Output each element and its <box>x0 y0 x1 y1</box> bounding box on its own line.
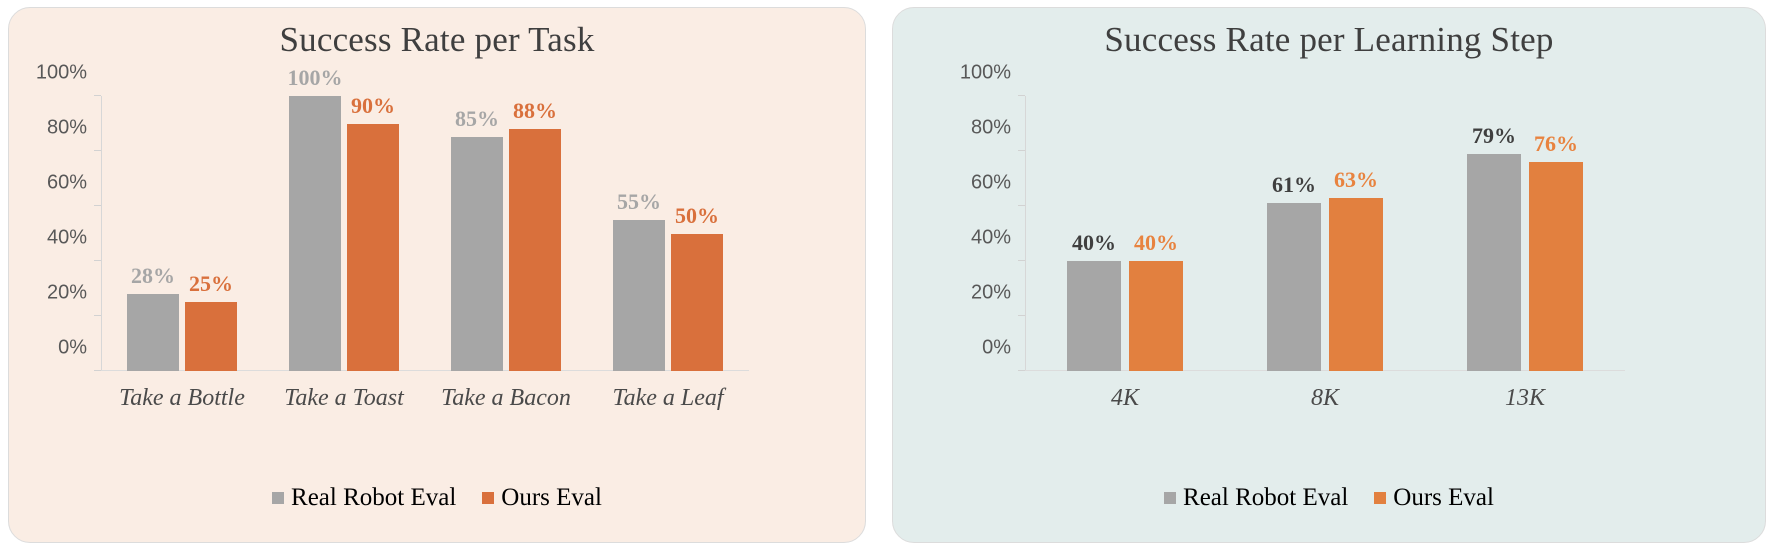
y-axis-label: 60% <box>47 172 87 195</box>
bar-value-label: 90% <box>351 93 395 119</box>
bar-ours-eval[interactable]: 40% <box>1129 261 1183 371</box>
y-axis-label: 80% <box>47 117 87 140</box>
y-axis-label: 100% <box>36 62 87 85</box>
legend-label: Real Robot Eval <box>291 484 456 512</box>
y-axis-label: 20% <box>47 282 87 305</box>
bar-pair: 100%90% <box>289 96 399 371</box>
bar-group: 61%63%8K <box>1225 96 1425 371</box>
bar-value-label: 88% <box>513 98 557 124</box>
bar-pair: 85%88% <box>451 96 561 371</box>
x-axis-label: 13K <box>1425 385 1625 412</box>
bar-pair: 61%63% <box>1267 96 1383 371</box>
bar-ours-eval[interactable]: 90% <box>347 124 399 372</box>
x-axis-label: Take a Leaf <box>587 385 749 412</box>
y-axis-tick <box>1018 205 1025 206</box>
bar-ours-eval[interactable]: 76% <box>1529 162 1583 371</box>
legend-swatch-icon <box>1374 492 1386 504</box>
bar-pair: 28%25% <box>127 96 237 371</box>
legend-swatch-icon <box>1164 492 1176 504</box>
bar-value-label: 28% <box>131 263 175 289</box>
y-axis-label: 80% <box>971 117 1011 140</box>
legend-left: Real Robot EvalOurs Eval <box>9 484 865 512</box>
bar-real-robot-eval[interactable]: 28% <box>127 294 179 371</box>
bar-groups-left: 28%25%Take a Bottle100%90%Take a Toast85… <box>101 96 749 371</box>
x-axis-label: Take a Bottle <box>101 385 263 412</box>
bar-group: 100%90%Take a Toast <box>263 96 425 371</box>
bar-real-robot-eval[interactable]: 61% <box>1267 203 1321 371</box>
y-axis-tick <box>94 370 101 371</box>
legend-right: Real Robot EvalOurs Eval <box>893 484 1765 512</box>
y-axis-tick <box>1018 370 1025 371</box>
legend-swatch-icon <box>272 492 284 504</box>
chart-panel-success-rate-per-task: Success Rate per Task 28%25%Take a Bottl… <box>8 7 866 543</box>
bar-ours-eval[interactable]: 63% <box>1329 198 1383 371</box>
legend-label: Ours Eval <box>1393 484 1494 512</box>
bar-group: 55%50%Take a Leaf <box>587 96 749 371</box>
page-title-right: Success Rate per Learning Step <box>893 20 1765 60</box>
bar-group: 40%40%4K <box>1025 96 1225 371</box>
legend-item-ours-eval[interactable]: Ours Eval <box>1374 484 1494 512</box>
bar-group: 85%88%Take a Bacon <box>425 96 587 371</box>
bar-value-label: 40% <box>1072 230 1116 256</box>
bar-value-label: 76% <box>1534 131 1578 157</box>
bar-pair: 79%76% <box>1467 96 1583 371</box>
y-axis-tick <box>1018 150 1025 151</box>
legend-item-real-robot-eval[interactable]: Real Robot Eval <box>1164 484 1348 512</box>
bar-real-robot-eval[interactable]: 79% <box>1467 154 1521 371</box>
legend-item-ours-eval[interactable]: Ours Eval <box>482 484 602 512</box>
y-axis-tick <box>94 150 101 151</box>
bar-group: 79%76%13K <box>1425 96 1625 371</box>
bar-ours-eval[interactable]: 88% <box>509 129 561 371</box>
bar-value-label: 63% <box>1334 167 1378 193</box>
x-axis-label: Take a Bacon <box>425 385 587 412</box>
bar-value-label: 25% <box>189 271 233 297</box>
y-axis-tick <box>1018 260 1025 261</box>
legend-label: Real Robot Eval <box>1183 484 1348 512</box>
y-axis-label: 40% <box>971 227 1011 250</box>
figure-root: Success Rate per Task 28%25%Take a Bottl… <box>0 0 1774 550</box>
bar-value-label: 61% <box>1272 172 1316 198</box>
chart-panel-success-rate-per-learning-step: Success Rate per Learning Step 40%40%4K6… <box>892 7 1766 543</box>
bar-value-label: 55% <box>617 189 661 215</box>
y-axis-label: 0% <box>982 337 1011 360</box>
bar-pair: 40%40% <box>1067 96 1183 371</box>
y-axis-tick <box>1018 315 1025 316</box>
bar-real-robot-eval[interactable]: 40% <box>1067 261 1121 371</box>
bar-group: 28%25%Take a Bottle <box>101 96 263 371</box>
bar-value-label: 40% <box>1134 230 1178 256</box>
bar-real-robot-eval[interactable]: 100% <box>289 96 341 371</box>
x-axis-label: 8K <box>1225 385 1425 412</box>
y-axis-tick <box>1018 95 1025 96</box>
legend-label: Ours Eval <box>501 484 602 512</box>
bar-real-robot-eval[interactable]: 55% <box>613 220 665 371</box>
y-axis-label: 0% <box>58 337 87 360</box>
legend-swatch-icon <box>482 492 494 504</box>
y-axis-label: 60% <box>971 172 1011 195</box>
y-axis-label: 20% <box>971 282 1011 305</box>
bar-value-label: 85% <box>455 106 499 132</box>
y-axis-label: 100% <box>960 62 1011 85</box>
bar-value-label: 79% <box>1472 123 1516 149</box>
y-axis-tick <box>94 260 101 261</box>
plot-area-left: 28%25%Take a Bottle100%90%Take a Toast85… <box>101 96 749 371</box>
page-title-left: Success Rate per Task <box>9 20 865 60</box>
bar-pair: 55%50% <box>613 96 723 371</box>
x-axis-label: 4K <box>1025 385 1225 412</box>
x-axis-label: Take a Toast <box>263 385 425 412</box>
bar-value-label: 50% <box>675 203 719 229</box>
plot-area-right: 40%40%4K61%63%8K79%76%13K 0%20%40%60%80%… <box>1025 96 1625 371</box>
y-axis-tick <box>94 205 101 206</box>
y-axis-tick <box>94 95 101 96</box>
y-axis-label: 40% <box>47 227 87 250</box>
bar-groups-right: 40%40%4K61%63%8K79%76%13K <box>1025 96 1625 371</box>
bar-ours-eval[interactable]: 50% <box>671 234 723 372</box>
bar-value-label: 100% <box>288 65 343 91</box>
bar-real-robot-eval[interactable]: 85% <box>451 137 503 371</box>
bar-ours-eval[interactable]: 25% <box>185 302 237 371</box>
y-axis-tick <box>94 315 101 316</box>
legend-item-real-robot-eval[interactable]: Real Robot Eval <box>272 484 456 512</box>
